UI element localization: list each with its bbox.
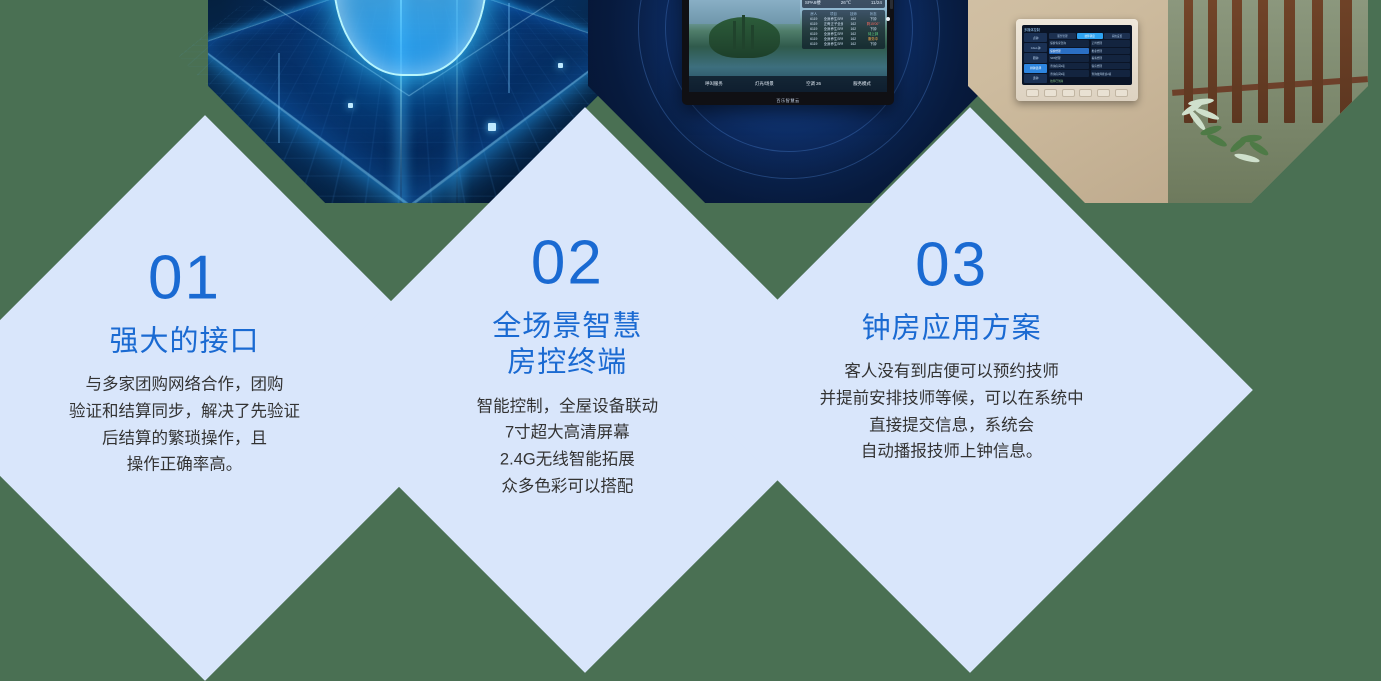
- td-tech: 162: [843, 42, 863, 47]
- panel-tab-settings[interactable]: 系统设置: [1104, 33, 1130, 39]
- panel-key[interactable]: [1079, 89, 1092, 97]
- room-status-table: 房人 项目 技师 状态 6119 全身养生SPA 162 下钟: [802, 10, 885, 49]
- tablet-brand-bottom-label: 百乐智慧云: [682, 97, 894, 103]
- call-service-button[interactable]: 呼叫服务: [705, 81, 723, 87]
- card-desc-line: 智能控制，全屋设备联动: [477, 393, 659, 420]
- card-title: 全场景智慧 房控终端: [492, 309, 642, 382]
- panel-list-right: 正骨经理 推拿经理 看客经理 客房经理 查询技师排班2项: [1091, 40, 1130, 77]
- card-desc-line: 众多色彩可以搭配: [477, 473, 659, 500]
- card-description: 与多家团购网络合作，团购 验证和结算同步，解决了先验证 后结算的繁琐操作，且 操…: [69, 372, 300, 479]
- aircon-button[interactable]: 空调 26: [806, 81, 821, 87]
- tablet-screen: 22:35 SPA6楼 26℃ 11/24 房人 项目 技师: [689, 0, 887, 92]
- tablet-device: CSi280 22:35 SPA6楼: [682, 0, 894, 105]
- panel-tab-service[interactable]: 服务管理: [1049, 33, 1075, 39]
- card-description: 智能控制，全屋设备联动 7寸超大高清屏幕 2.4G无线智能拓展 众多色彩可以搭配: [477, 393, 659, 500]
- list-item[interactable]: 看客经理: [1091, 55, 1130, 62]
- card-desc-line: 客人没有到店便可以预约技师: [820, 359, 1084, 386]
- panel-button-quanzhong[interactable]: 圈钟: [1024, 53, 1047, 62]
- card-desc-line: 操作正确率高。: [69, 452, 300, 479]
- diamond-feature-layout: CSi280 22:35 SPA6楼: [0, 0, 1381, 603]
- panel-key[interactable]: [1026, 89, 1039, 97]
- list-item[interactable]: SPA经理: [1049, 55, 1088, 62]
- panel-list-left: 保健专家咨询 保健经理 SPA经理 查询房间2项 查询房间3项: [1049, 40, 1088, 77]
- card-title: 强大的接口: [109, 324, 259, 360]
- card-desc-line: 直接提交信息，系统会: [820, 412, 1084, 439]
- panel-title: 多媒体控制: [1024, 27, 1130, 32]
- list-item[interactable]: 保健专家咨询: [1049, 40, 1088, 47]
- wood-slat-icon: [1312, 0, 1323, 123]
- table-row: 6119 全身养生SPA 162 下钟: [804, 42, 883, 47]
- card-desc-line: 7寸超大高清屏幕: [477, 420, 659, 447]
- clock-widget: 22:35 SPA6楼 26℃ 11/24: [802, 0, 885, 8]
- panel-button-paizhong[interactable]: 排钟选择: [1024, 64, 1047, 73]
- list-item[interactable]: 保健经理: [1049, 48, 1088, 55]
- card-desc-line: 2.4G无线智能拓展: [477, 447, 659, 474]
- tree-icon: [733, 21, 736, 49]
- panel-left-buttons: 点钟 CALL钟 圈钟 排钟选择 选钟: [1024, 33, 1047, 83]
- panel-tab-dispatch[interactable]: 技师调度: [1077, 33, 1103, 39]
- panel-key[interactable]: [1115, 89, 1128, 97]
- card-desc-line: 后结算的繁琐操作，且: [69, 425, 300, 452]
- panel-key[interactable]: [1044, 89, 1057, 97]
- panel-lists: 保健专家咨询 保健经理 SPA经理 查询房间2项 查询房间3项 正骨经理 推拿经…: [1049, 40, 1130, 77]
- plant-icon: [1228, 131, 1308, 201]
- wood-slat-icon: [1284, 0, 1295, 123]
- card-title: 钟房应用方案: [862, 310, 1042, 346]
- feature-card-01-content: 01 强大的接口 与多家团购网络合作，团购 验证和结算同步，解决了先验证 后结算…: [0, 190, 384, 648]
- panel-footer-label: 技师已到岗: [1050, 78, 1063, 82]
- card-description: 客人没有到店便可以预约技师 并提前安排技师等候，可以在系统中 直接提交信息，系统…: [820, 359, 1084, 466]
- card-number: 01: [148, 248, 221, 310]
- panel-key[interactable]: [1097, 89, 1110, 97]
- wood-slat-icon: [1340, 0, 1352, 123]
- clock-date: 11/24: [871, 0, 882, 6]
- list-item[interactable]: 查询房间2项: [1049, 63, 1088, 70]
- wall-control-panel[interactable]: 多媒体控制 点钟 CALL钟 圈钟 排钟选择 选钟 服务管理 技师: [1016, 19, 1138, 101]
- list-item[interactable]: 查询房间3项: [1049, 70, 1088, 77]
- service-mode-button[interactable]: 服务模式: [853, 81, 871, 87]
- spark-icon: [558, 63, 563, 68]
- card-desc-line: 验证和结算同步，解决了先验证: [69, 398, 300, 425]
- tablet-bottom-bar: 呼叫服务 灯光/场景 空调 26 服务模式: [689, 76, 887, 92]
- card-number: 02: [531, 233, 604, 295]
- card-number: 03: [915, 234, 988, 296]
- card-desc-line: 自动播报技师上钟信息。: [820, 439, 1084, 466]
- list-item[interactable]: 推拿经理: [1091, 48, 1130, 55]
- card-title-line: 全场景智慧: [492, 309, 642, 345]
- clock-temperature: 26℃: [841, 0, 851, 6]
- clock-location: SPA6楼: [805, 0, 821, 6]
- panel-tabs: 服务管理 技师调度 系统设置: [1049, 33, 1130, 39]
- tablet-camera-icon: [886, 17, 890, 21]
- td-status: 下钟: [863, 42, 883, 47]
- list-item[interactable]: 查询技师排班2项: [1091, 70, 1130, 77]
- panel-key[interactable]: [1062, 89, 1075, 97]
- window-view: [1168, 0, 1368, 203]
- td-item: 全身养生SPA: [824, 42, 844, 47]
- circuit-trace-icon: [508, 3, 510, 93]
- circuit-trace-icon: [278, 53, 280, 143]
- panel-right-area: 服务管理 技师调度 系统设置 保健专家咨询 保健经理 SPA经理 查询房间2项: [1049, 33, 1130, 83]
- spark-icon: [488, 123, 496, 131]
- panel-button-dianzhong[interactable]: 点钟: [1024, 33, 1047, 42]
- spark-icon: [348, 103, 353, 108]
- panel-button-xuanzhong[interactable]: 选钟: [1024, 74, 1047, 83]
- list-item[interactable]: 正骨经理: [1091, 40, 1130, 47]
- card-desc-line: 并提前安排技师等候，可以在系统中: [820, 385, 1084, 412]
- panel-screen: 多媒体控制 点钟 CALL钟 圈钟 排钟选择 选钟 服务管理 技师: [1022, 25, 1132, 85]
- panel-button-callzhong[interactable]: CALL钟: [1024, 43, 1047, 52]
- tree-icon: [742, 15, 745, 49]
- td-room: 6119: [804, 42, 824, 47]
- lighting-scene-button[interactable]: 灯光/场景: [755, 81, 774, 87]
- card-title-line: 房控终端: [492, 345, 642, 381]
- panel-footer: 技师已到岗: [1049, 78, 1130, 83]
- tree-icon: [751, 25, 754, 49]
- list-item[interactable]: 客房经理: [1091, 63, 1130, 70]
- card-desc-line: 与多家团购网络合作，团购: [69, 372, 300, 399]
- clock-meta: SPA6楼 26℃ 11/24: [805, 0, 882, 6]
- panel-hardware-keys: [1022, 89, 1132, 97]
- panel-body: 点钟 CALL钟 圈钟 排钟选择 选钟 服务管理 技师调度 系统设置: [1024, 33, 1130, 83]
